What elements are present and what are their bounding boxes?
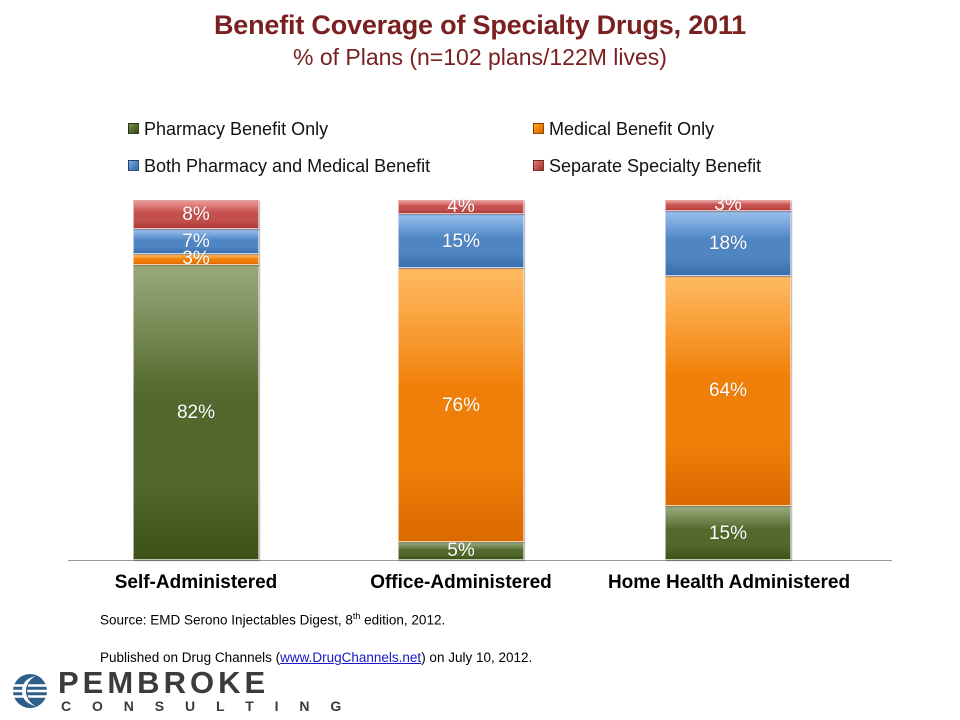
bar-segment-label: 15%: [709, 524, 747, 543]
source-note-text: Source: EMD Serono Injectables Digest, 8: [100, 613, 353, 628]
bar-segment[interactable]: 15%: [398, 214, 524, 268]
bar-segment[interactable]: 18%: [665, 211, 791, 276]
category-axis-line: [68, 560, 892, 561]
stacked-bar-office-administered[interactable]: 5%76%15%4%: [398, 200, 524, 560]
source-note: Source: EMD Serono Injectables Digest, 8…: [100, 611, 445, 628]
category-label-self-administered: Self-Administered: [86, 572, 306, 594]
bar-segment[interactable]: 15%: [665, 506, 791, 560]
bar-segment[interactable]: 64%: [665, 276, 791, 506]
bar-segment[interactable]: 5%: [398, 542, 524, 560]
bar-segment[interactable]: 3%: [133, 254, 259, 265]
pembroke-consulting-logo: PEMBROKE C O N S U L T I N G: [10, 668, 350, 714]
bar-segment-label: 15%: [442, 232, 480, 251]
logo-tagline: C O N S U L T I N G: [58, 698, 350, 714]
bar-segment[interactable]: 4%: [398, 200, 524, 214]
published-note: Published on Drug Channels (www.DrugChan…: [100, 650, 532, 665]
bar-segment-label: 3%: [714, 195, 741, 214]
pembroke-globe-icon: [10, 671, 50, 711]
published-note-prefix: Published on Drug Channels (: [100, 650, 280, 665]
bar-segment-label: 4%: [447, 197, 474, 216]
logo-company-name: PEMBROKE: [58, 668, 350, 698]
drugchannels-link[interactable]: www.DrugChannels.net: [280, 650, 421, 665]
bar-segment[interactable]: 82%: [133, 265, 259, 560]
bar-segment-label: 7%: [182, 232, 209, 251]
category-label-office-administered: Office-Administered: [351, 572, 571, 594]
bar-segment[interactable]: 7%: [133, 229, 259, 254]
bar-segment-label: 64%: [709, 381, 747, 400]
bar-segment-label: 8%: [182, 205, 209, 224]
stacked-bar-home-health-administered[interactable]: 15%64%18%3%: [665, 200, 791, 560]
stacked-bar-self-administered[interactable]: 82%3%7%8%: [133, 200, 259, 560]
bar-segment-label: 5%: [447, 541, 474, 560]
category-label-home-health-administered: Home Health Administered: [598, 572, 860, 594]
published-note-suffix: ) on July 10, 2012.: [421, 650, 532, 665]
bar-segment[interactable]: 76%: [398, 268, 524, 542]
bar-segment-label: 82%: [177, 403, 215, 422]
logo-text: PEMBROKE C O N S U L T I N G: [58, 668, 350, 714]
bar-segment[interactable]: 8%: [133, 200, 259, 229]
bar-segment-label: 76%: [442, 396, 480, 415]
bar-segment-label: 18%: [709, 234, 747, 253]
bar-segment[interactable]: 3%: [665, 200, 791, 211]
source-note-suffix: edition, 2012.: [360, 613, 445, 628]
bar-segment-label: 3%: [182, 249, 209, 268]
